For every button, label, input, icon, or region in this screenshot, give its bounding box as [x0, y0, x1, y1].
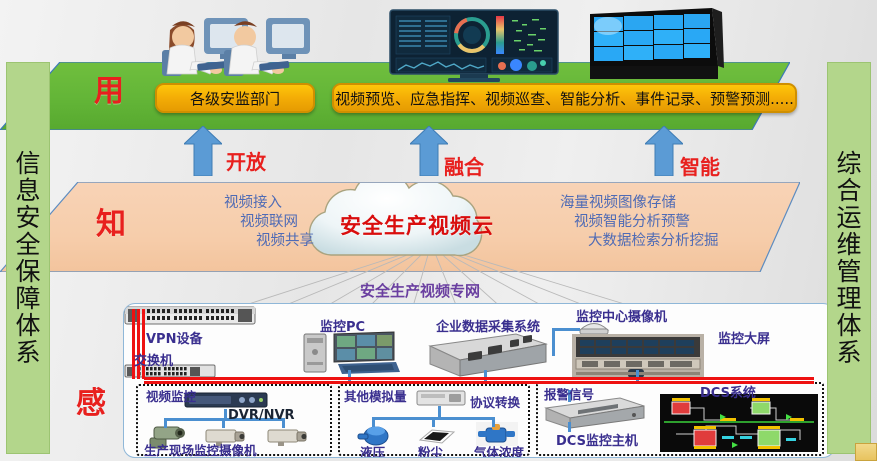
right-banner-char-1: 合	[836, 177, 861, 204]
cam-drop-2	[222, 418, 225, 428]
cloud-left-line-2: 视频联网	[132, 213, 298, 232]
scroll-corner[interactable]	[855, 443, 877, 461]
analog-signal-title: 其他模拟量	[344, 386, 407, 405]
right-vertical-banner: 综 合 运 维 管 理 体 系	[827, 62, 871, 454]
arrow-intelligent-icon	[645, 126, 683, 176]
cloud-title: 安全生产视频云	[283, 210, 551, 240]
right-banner-char-4: 管	[836, 258, 861, 285]
tier-label-use: 用	[94, 66, 124, 110]
left-banner-char-3: 全	[15, 231, 40, 258]
vpn-device-label: VPN设备	[146, 328, 202, 347]
dashboard-monitor-illustration	[388, 8, 560, 84]
left-banner-char-7: 系	[15, 339, 40, 366]
enterprise-data-collection-label: 企业数据采集系统	[436, 316, 540, 335]
cam-drop-1	[164, 418, 167, 428]
bus-line-red-1	[144, 377, 814, 380]
tier-label-know: 知	[96, 199, 126, 243]
left-banner-char-2: 安	[15, 204, 40, 231]
video-surveillance-title: 视频监控	[146, 386, 196, 405]
site-camera-caption: 生产现场监控摄像机	[144, 440, 257, 458]
arrow-intelligent-label: 智能	[680, 151, 720, 180]
cloud-right-line-2: 视频智能分析预警	[574, 213, 790, 232]
alarm-signal-title: 报警信号	[544, 384, 594, 403]
right-banner-char-5: 理	[836, 285, 861, 312]
arrow-converge-label: 融合	[444, 151, 484, 180]
cloud-right-line-3: 大数据检索分析挖掘	[588, 232, 790, 251]
arrow-open-icon	[184, 126, 222, 176]
protocol-converter-label: 协议转换	[470, 392, 520, 411]
functions-box[interactable]: 视频预览、应急指挥、视频巡查、智能分析、事件记录、预警预测.....	[332, 83, 797, 113]
left-banner-char-5: 障	[15, 285, 40, 312]
right-banner-char-7: 系	[836, 339, 861, 366]
sensor-drop-2	[432, 417, 435, 427]
right-banner-char-2: 运	[836, 204, 861, 231]
right-banner-char-3: 维	[836, 231, 861, 258]
monitor-pc-icon	[302, 330, 400, 376]
hydraulic-label: 液压	[360, 442, 385, 458]
switch-label: 交换机	[134, 350, 173, 369]
box-camera-icon-2	[266, 426, 308, 448]
right-banner-char-0: 综	[836, 150, 861, 177]
cloud-right-features: 海量视频图像存储 视频智能分析预警 大数据检索分析挖掘	[560, 194, 790, 251]
gas-concentration-label: 气体浓度	[474, 442, 524, 458]
dvr-nvr-label: DVR/NVR	[228, 408, 295, 423]
sensor-drop-3	[492, 417, 495, 427]
cloud-right-line-1: 海量视频图像存储	[560, 194, 790, 213]
diagram-canvas: 用 知 感 各级安监部门 视频预览、应急指挥、视频巡查、智能分析、事件记录、预警…	[0, 0, 877, 461]
operators-at-computers-illustration	[142, 2, 320, 80]
dcs-host-label: DCS监控主机	[556, 430, 638, 449]
cloud-left-line-1: 视频接入	[132, 194, 282, 213]
dept-box[interactable]: 各级安监部门	[155, 83, 315, 113]
cloud-left-features: 视频接入 视频联网 视频共享	[132, 194, 282, 251]
dvr-nvr-icon	[184, 392, 268, 409]
arrow-open-label: 开放	[226, 146, 266, 175]
video-wall-illustration	[584, 6, 728, 82]
camera-link-v	[552, 328, 555, 356]
cloud-left-line-3: 视频共享	[132, 232, 314, 251]
dust-label: 粉尘	[418, 442, 443, 458]
sense-layer-panel: VPN设备 交换机	[123, 303, 835, 458]
left-banner-char-4: 保	[15, 258, 40, 285]
protocol-converter-icon	[416, 388, 466, 408]
left-banner-char-1: 息	[15, 177, 40, 204]
left-vertical-banner: 信 息 安 全 保 障 体 系	[6, 62, 50, 454]
right-banner-char-6: 体	[836, 312, 861, 339]
arrow-converge-icon	[410, 126, 448, 176]
dcs-system-label: DCS系统	[700, 382, 756, 401]
sensor-drop-1	[372, 417, 375, 427]
tier-label-sense: 感	[76, 378, 106, 422]
left-banner-char-0: 信	[15, 150, 40, 177]
monitor-bigscreen-label: 监控大屏	[718, 328, 770, 347]
monitor-pc-label: 监控PC	[320, 316, 365, 335]
left-banner-char-6: 体	[15, 312, 40, 339]
camera-link-h	[552, 328, 580, 331]
control-center-camera-label: 监控中心摄像机	[576, 306, 667, 325]
dcs-system-screen-icon	[660, 394, 818, 452]
private-network-label: 安全生产视频专网	[300, 280, 540, 301]
